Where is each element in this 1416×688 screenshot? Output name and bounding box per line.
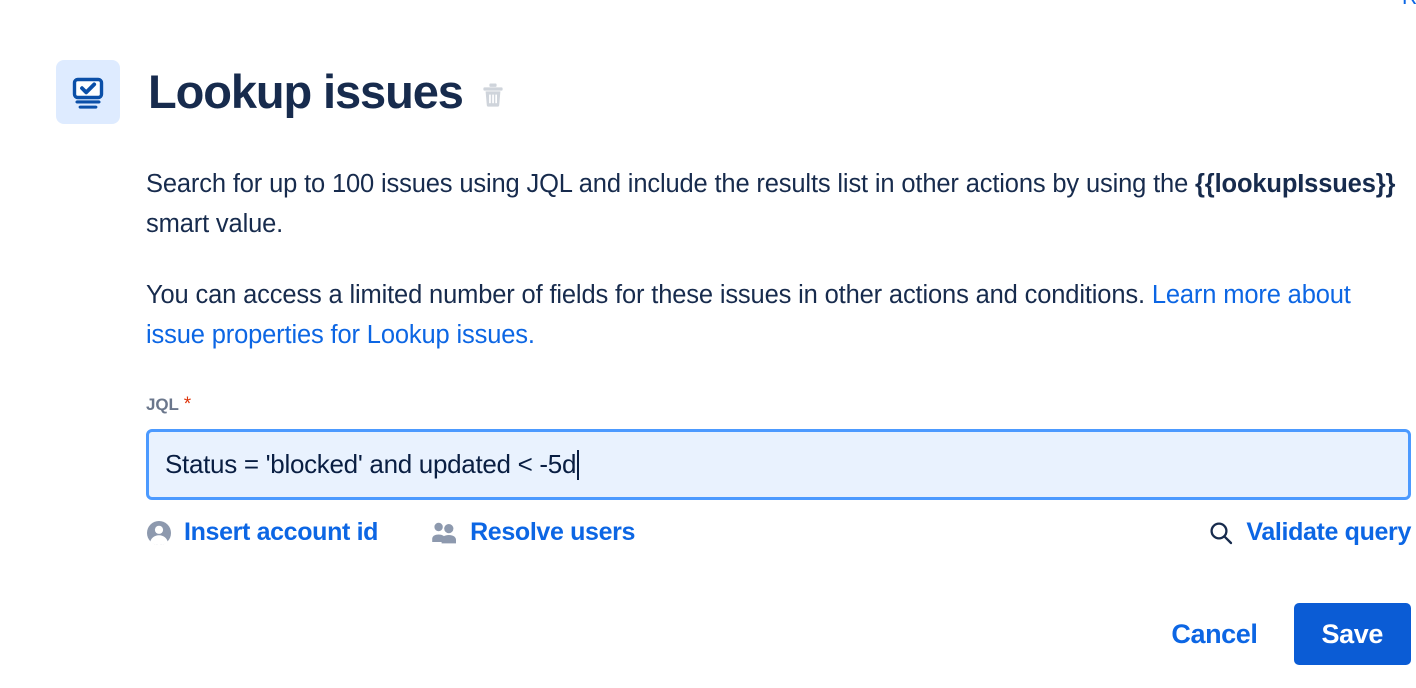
desc2-before: You can access a limited number of field… xyxy=(146,281,1152,309)
lookup-issues-action-panel: Lookup issues Search for up to 100 issue… xyxy=(0,0,1416,688)
description-paragraph-1: Search for up to 100 issues using JQL an… xyxy=(146,164,1410,244)
panel-header: Lookup issues xyxy=(56,60,1416,124)
cancel-button[interactable]: Cancel xyxy=(1159,609,1269,660)
jql-helper-left: Insert account id Resolve users xyxy=(146,518,635,547)
validate-query-button[interactable]: Validate query xyxy=(1208,518,1411,547)
required-asterisk: * xyxy=(184,395,191,414)
resolve-users-label: Resolve users xyxy=(470,518,635,547)
validate-query-label: Validate query xyxy=(1246,518,1411,547)
jql-input[interactable]: Status = 'blocked' and updated < -5d xyxy=(146,429,1411,500)
panel-content: Search for up to 100 issues using JQL an… xyxy=(146,164,1416,665)
jql-input-value: Status = 'blocked' and updated < -5d xyxy=(165,449,576,480)
jql-label-row: JQL * xyxy=(146,395,1410,415)
panel-footer: Cancel Save xyxy=(146,603,1411,665)
trash-icon[interactable] xyxy=(479,81,507,109)
description-paragraph-2: You can access a limited number of field… xyxy=(146,275,1410,355)
search-icon xyxy=(1208,520,1234,546)
desc1-after: smart value. xyxy=(146,210,283,238)
resolve-users-button[interactable]: Resolve users xyxy=(430,518,635,547)
people-icon xyxy=(430,521,458,545)
page-title: Lookup issues xyxy=(148,67,463,116)
text-caret xyxy=(577,450,579,480)
desc1-before: Search for up to 100 issues using JQL an… xyxy=(146,170,1195,198)
lookup-issues-icon xyxy=(56,60,120,124)
insert-account-id-button[interactable]: Insert account id xyxy=(146,518,378,547)
insert-account-id-label: Insert account id xyxy=(184,518,378,547)
jql-label: JQL xyxy=(146,395,179,415)
person-circle-icon xyxy=(146,520,172,546)
jql-helper-row: Insert account id Resolve users xyxy=(146,518,1411,547)
smart-value-token: {{lookupIssues}} xyxy=(1195,170,1395,198)
save-button[interactable]: Save xyxy=(1294,603,1411,665)
jql-helper-right: Validate query xyxy=(1208,518,1411,547)
title-wrap: Lookup issues xyxy=(148,67,507,116)
